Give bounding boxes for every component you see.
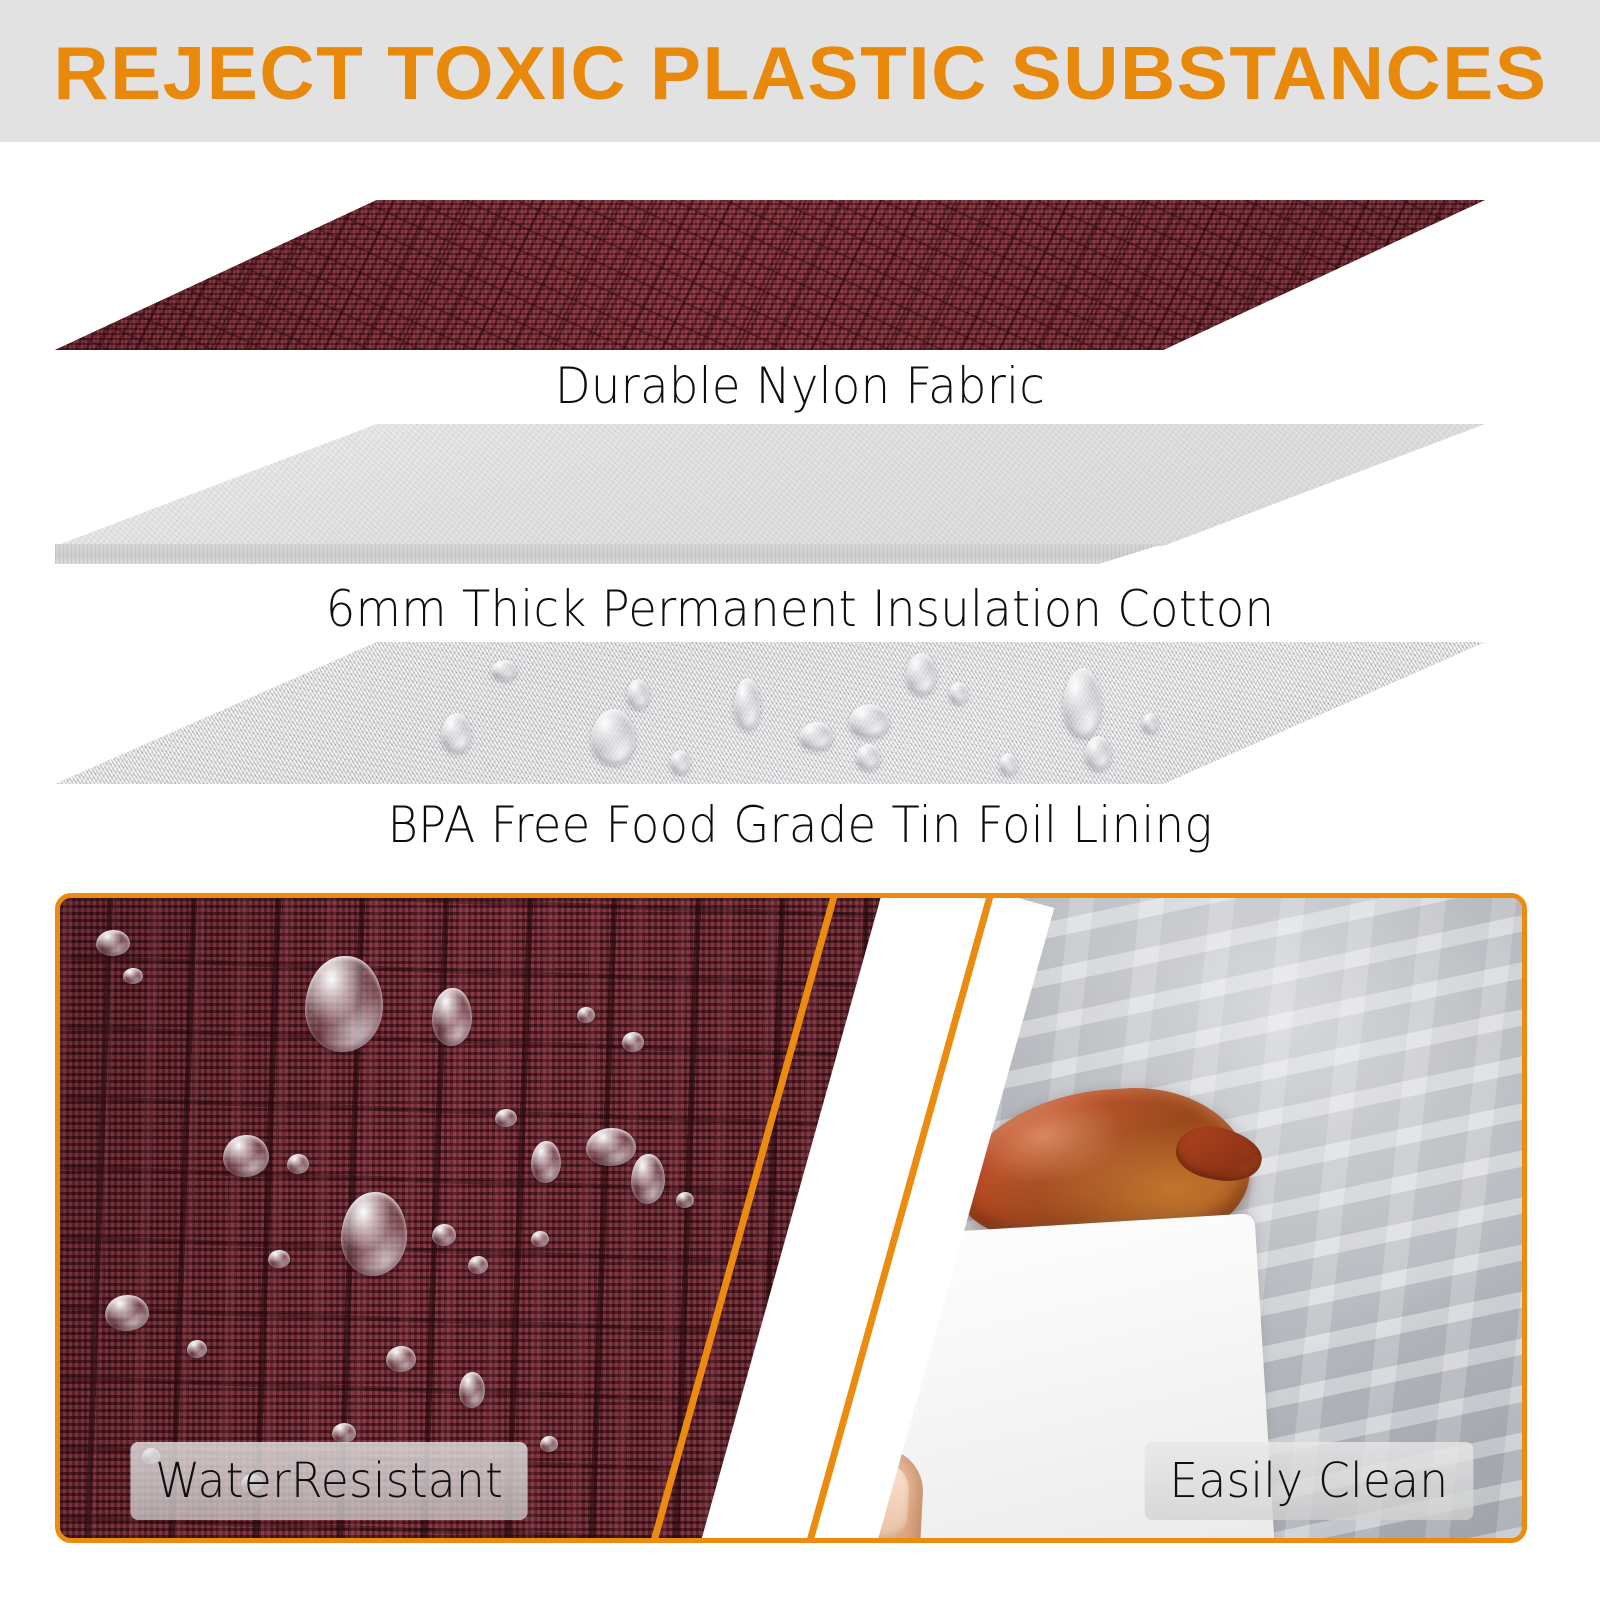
label-easily-clean: Easily Clean: [1145, 1442, 1473, 1520]
feature-photo-panel: WaterResistant Easily Clean: [55, 893, 1527, 1543]
layer-nylon: Durable Nylon Fabric: [0, 142, 1600, 387]
layer-foil: BPA Free Food Grade Tin Foil Lining: [0, 614, 1600, 864]
label-water-resistant: WaterResistant: [130, 1442, 527, 1520]
nylon-fabric-illustration: [0, 142, 1600, 387]
page-title: REJECT TOXIC PLASTIC SUBSTANCES: [53, 36, 1547, 111]
layer-insulation: 6mm Thick Permanent Insulation Cotton: [0, 372, 1600, 622]
header-band: REJECT TOXIC PLASTIC SUBSTANCES: [0, 0, 1600, 142]
layer-caption-foil: BPA Free Food Grade Tin Foil Lining: [56, 796, 1544, 854]
material-layers-diagram: Durable Nylon Fabric 6mm Thick Permanent…: [0, 142, 1600, 872]
